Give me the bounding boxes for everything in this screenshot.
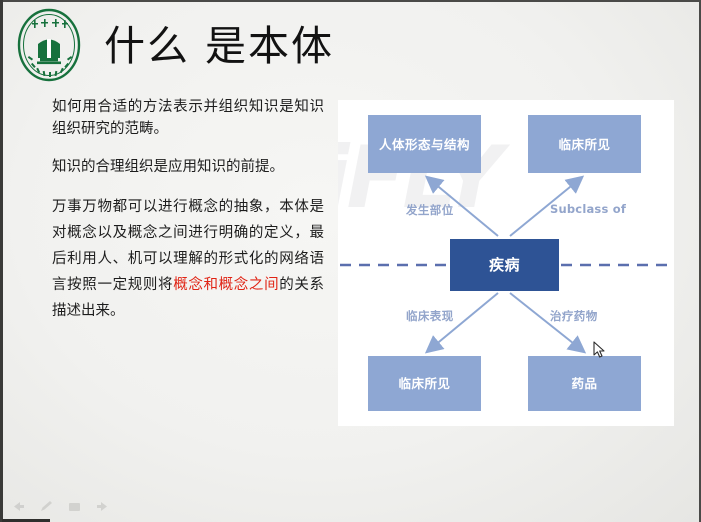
- ontology-diagram-panel: iFLY 人体形态与结构 临床所见 疾病 临床所见 药品 发生部位 Subcl: [338, 100, 674, 426]
- paragraph-3: 万事万物都可以进行概念的抽象，本体是对概念以及概念之间进行明确的定义，最后利用人…: [52, 194, 324, 324]
- presentation-slide: 什么 是本体 如何用合适的方法表示并组织知识是知识组织研究的范畴。 知识的合理组…: [0, 0, 701, 522]
- edge-label-subclass-of: Subclass of: [550, 202, 626, 216]
- edge-label-manifestation: 临床表现: [406, 308, 454, 324]
- node-disease[interactable]: 疾病: [450, 239, 559, 291]
- node-clinical-findings-top[interactable]: 临床所见: [528, 115, 641, 173]
- edge-label-location: 发生部位: [406, 202, 454, 218]
- presentation-toolbar[interactable]: [10, 499, 111, 514]
- slide-overview-icon[interactable]: [66, 499, 83, 514]
- previous-slide-icon[interactable]: [10, 499, 27, 514]
- paragraph-3-highlight: 概念和概念之间: [173, 277, 279, 293]
- slide-body-text: 如何用合适的方法表示并组织知识是知识组织研究的范畴。 知识的合理组织是应用知识的…: [52, 96, 324, 324]
- frame-top-border: [0, 0, 701, 2]
- next-slide-icon[interactable]: [94, 499, 111, 514]
- node-clinical-findings-bottom[interactable]: 临床所见: [368, 356, 481, 411]
- node-anatomy[interactable]: 人体形态与结构: [368, 115, 481, 173]
- pen-icon[interactable]: [38, 499, 55, 514]
- paragraph-1: 如何用合适的方法表示并组织知识是知识组织研究的范畴。: [52, 96, 324, 140]
- frame-left-border: [0, 0, 3, 522]
- page-title: 什么 是本体: [104, 12, 334, 72]
- node-drug[interactable]: 药品: [528, 356, 641, 411]
- university-logo-icon: [16, 8, 82, 82]
- paragraph-2: 知识的合理组织是应用知识的前提。: [52, 156, 324, 178]
- edge-label-therapy: 治疗药物: [550, 308, 598, 324]
